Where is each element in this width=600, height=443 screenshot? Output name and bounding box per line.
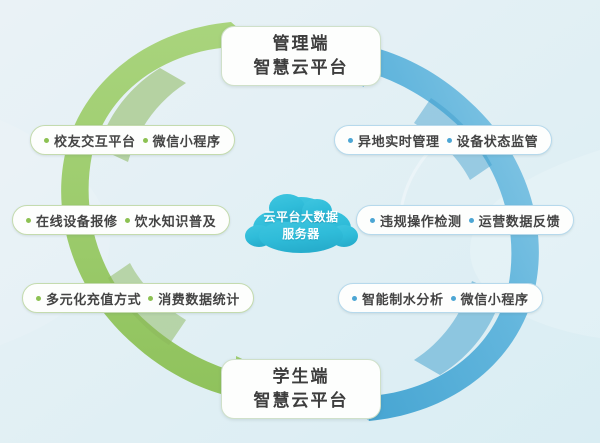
- cloud-server-label: 云平台大数据 服务器: [243, 186, 359, 258]
- left-feature-3b: 消费数据统计: [158, 289, 240, 308]
- cloud-server-label-line2: 服务器: [282, 226, 320, 243]
- left-feature-pill-1[interactable]: 校友交互平台 微信小程序: [30, 125, 235, 155]
- left-feature-2a: 在线设备报修: [36, 211, 118, 230]
- right-feature-pill-2[interactable]: 违规操作检测 运营数据反馈: [356, 205, 574, 235]
- bullet-dot-icon: [143, 138, 148, 143]
- left-feature-pill-3[interactable]: 多元化充值方式 消费数据统计: [22, 283, 254, 313]
- cloud-server-label-line1: 云平台大数据: [263, 209, 338, 226]
- student-platform-title-line2: 智慧云平台: [254, 389, 349, 413]
- student-platform-title: 学生端 智慧云平台: [221, 359, 381, 419]
- right-feature-2b: 运营数据反馈: [479, 211, 561, 230]
- left-feature-1b: 微信小程序: [153, 131, 221, 150]
- right-feature-pill-3[interactable]: 智能制水分析 微信小程序: [338, 283, 543, 313]
- bullet-dot-icon: [36, 296, 41, 301]
- bullet-dot-icon: [26, 218, 31, 223]
- bullet-dot-icon: [447, 138, 452, 143]
- management-platform-title: 管理端 智慧云平台: [221, 26, 381, 86]
- bullet-dot-icon: [44, 138, 49, 143]
- infographic-canvas: 管理端 智慧云平台 学生端 智慧云平台 校友交互平台 微信小程序 在线设备报修 …: [0, 0, 600, 443]
- bullet-dot-icon: [348, 138, 353, 143]
- left-feature-1a: 校友交互平台: [54, 131, 136, 150]
- bullet-dot-icon: [125, 218, 130, 223]
- left-feature-3a: 多元化充值方式: [46, 289, 141, 308]
- bullet-dot-icon: [451, 296, 456, 301]
- right-feature-1b: 设备状态监管: [457, 131, 539, 150]
- left-feature-2b: 饮水知识普及: [135, 211, 217, 230]
- bullet-dot-icon: [469, 218, 474, 223]
- right-feature-3a: 智能制水分析: [362, 289, 444, 308]
- cloud-server-node: 云平台大数据 服务器: [243, 186, 359, 258]
- bullet-dot-icon: [370, 218, 375, 223]
- right-feature-3b: 微信小程序: [461, 289, 529, 308]
- management-platform-title-line2: 智慧云平台: [254, 56, 349, 80]
- student-platform-title-line1: 学生端: [273, 365, 330, 389]
- right-feature-pill-1[interactable]: 异地实时管理 设备状态监管: [334, 125, 552, 155]
- right-feature-1a: 异地实时管理: [358, 131, 440, 150]
- bullet-dot-icon: [148, 296, 153, 301]
- bullet-dot-icon: [352, 296, 357, 301]
- management-platform-title-line1: 管理端: [273, 32, 330, 56]
- left-feature-pill-2[interactable]: 在线设备报修 饮水知识普及: [12, 205, 230, 235]
- right-feature-2a: 违规操作检测: [380, 211, 462, 230]
